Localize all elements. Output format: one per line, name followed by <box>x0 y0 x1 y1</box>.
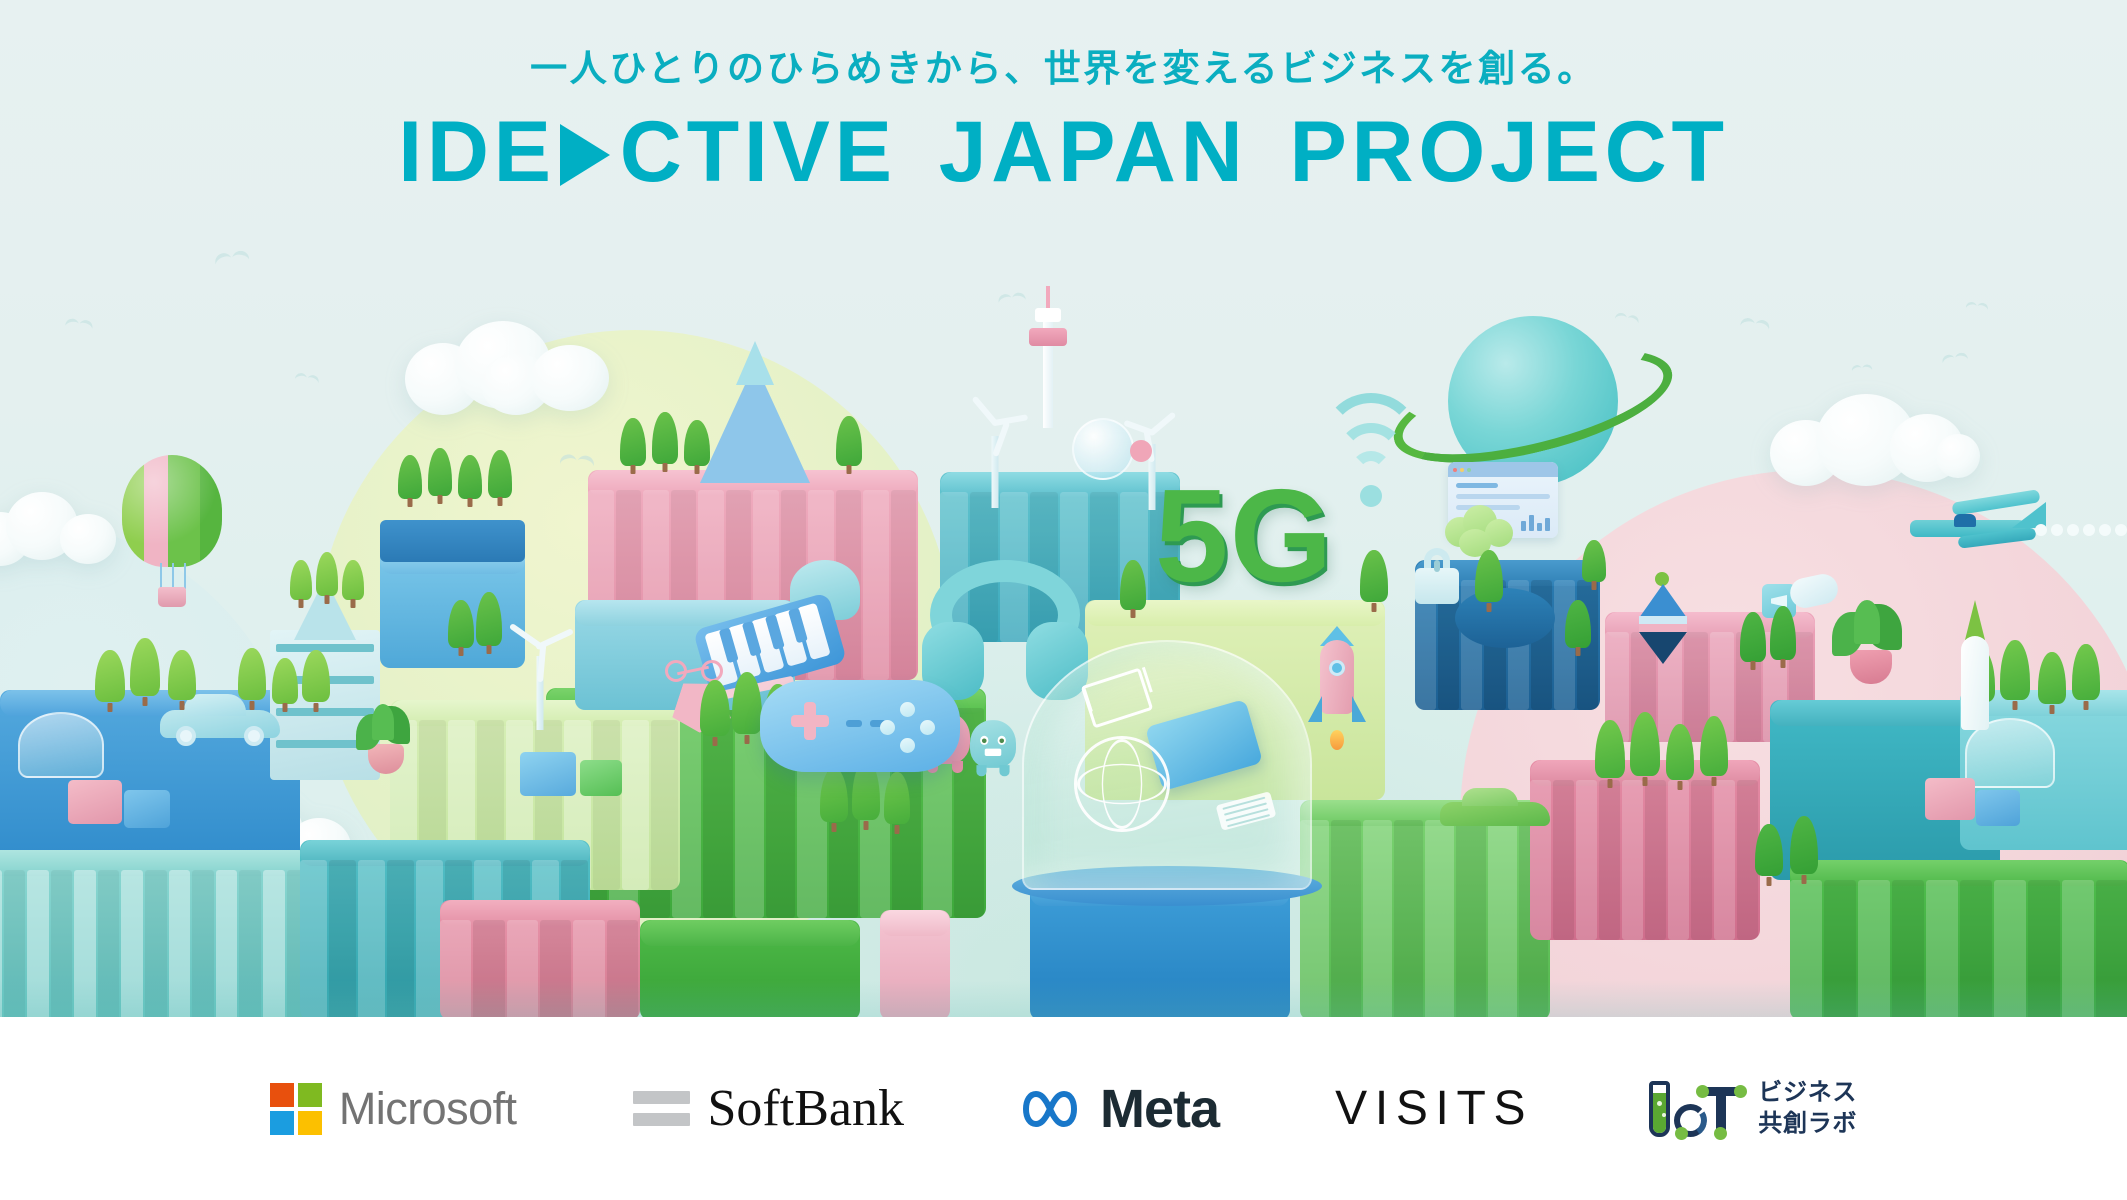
cube-blue <box>124 790 170 828</box>
pine-tree-icon <box>700 680 730 746</box>
partner-logo-microsoft[interactable]: Microsoft <box>270 1083 517 1135</box>
hero-title-block: 一人ひとりのひらめきから、世界を変えるビジネスを創る。 IDE CTIVE JA… <box>0 46 2127 199</box>
hero-logotype: IDE CTIVE JAPAN PROJECT <box>0 106 2127 199</box>
pine-tree-icon <box>1666 724 1694 790</box>
microsoft-logo-icon <box>270 1083 322 1135</box>
pine-tree-icon <box>428 448 452 504</box>
pine-tree-icon <box>290 560 312 608</box>
airplane-icon <box>1900 490 2050 560</box>
potted-plant-icon <box>352 700 418 774</box>
building-block-blue <box>380 520 525 562</box>
pine-tree-icon <box>2072 644 2100 710</box>
bird-icon <box>998 292 1026 306</box>
padlock-icon <box>1415 548 1459 604</box>
pine-tree-icon <box>652 412 678 472</box>
pine-tree-icon <box>2000 640 2030 710</box>
pine-tree-icon <box>1630 712 1660 786</box>
partner-logo-visits[interactable]: VISITS <box>1335 1081 1533 1136</box>
platform-navy-cap <box>1455 588 1555 648</box>
bird-icon <box>214 250 250 269</box>
bird-icon <box>1966 302 1989 313</box>
bird-icon <box>1852 364 1873 373</box>
sphere-pink <box>1130 440 1152 462</box>
pine-tree-icon <box>1565 600 1591 656</box>
logotype-ctive: CTIVE <box>620 106 897 199</box>
visits-wordmark: VISITS <box>1335 1081 1533 1136</box>
pine-tree-icon <box>820 768 848 832</box>
pine-tree-icon <box>448 600 474 656</box>
bird-icon <box>294 372 319 386</box>
iot-lab-logo-icon <box>1649 1079 1745 1139</box>
pine-tree-icon <box>1770 606 1796 668</box>
pine-tree-icon <box>1360 550 1388 612</box>
iot-lab-line1: ビジネス <box>1758 1080 1857 1106</box>
hero-illustration-section: 5G <box>0 0 2127 1017</box>
logotype-project: PROJECT <box>1289 106 1728 199</box>
pine-tree-icon <box>168 650 196 710</box>
partner-logo-meta[interactable]: Meta <box>1020 1078 1219 1140</box>
pine-tree-icon <box>1740 612 1766 670</box>
pine-tree-icon <box>238 648 266 710</box>
bicycle-icon <box>665 650 723 682</box>
pine-tree-icon <box>1120 560 1146 618</box>
pine-tree-icon <box>1595 720 1625 788</box>
hot-air-balloon-icon <box>122 455 222 605</box>
pine-tree-icon <box>1755 824 1783 886</box>
iot-lab-wordmark: ビジネス 共創ラボ <box>1758 1080 1857 1137</box>
triangle-a-icon <box>560 124 610 186</box>
pine-tree-icon <box>732 672 762 744</box>
cloud-icon <box>405 315 610 415</box>
pine-tree-icon <box>476 592 502 654</box>
pine-tree-icon <box>836 416 862 474</box>
plane-contrail <box>2035 524 2127 536</box>
pine-tree-icon <box>488 450 512 506</box>
pine-tree-icon <box>398 455 422 507</box>
hero-tagline: 一人ひとりのひらめきから、世界を変えるビジネスを創る。 <box>0 46 2127 92</box>
pine-tree-icon <box>1582 540 1606 590</box>
pine-tree-icon <box>302 650 330 712</box>
pine-tree-icon <box>95 650 125 712</box>
partner-logo-bar: Microsoft SoftBank Meta VISITS <box>0 1017 2127 1200</box>
bubble-sphere <box>1072 418 1134 480</box>
cube-blue <box>1976 790 2020 826</box>
bird-icon <box>1942 352 1969 366</box>
ground-strip <box>0 980 2127 1017</box>
wind-turbine-icon <box>505 640 575 730</box>
wind-turbine-icon <box>965 420 1025 508</box>
pine-tree-icon <box>884 772 910 834</box>
cube-pink <box>68 780 122 824</box>
cube-blue <box>520 752 576 796</box>
cube-pink <box>1925 778 1975 820</box>
planet-with-ring-icon <box>1448 316 1618 486</box>
glass-dome-small <box>18 712 104 778</box>
pine-tree-icon <box>2038 652 2066 714</box>
pine-tree-icon <box>620 418 646 474</box>
microsoft-wordmark: Microsoft <box>339 1083 517 1135</box>
cloud-icon <box>0 490 120 566</box>
buoy-marker <box>1633 572 1693 664</box>
pine-tree-icon <box>272 658 298 712</box>
partner-logo-iot-lab[interactable]: ビジネス 共創ラボ <box>1649 1079 1857 1139</box>
five-g-callout: 5G <box>1155 470 1334 602</box>
game-controller-icon <box>760 680 960 772</box>
mascot-character-teal <box>970 720 1016 768</box>
mountain-cone <box>700 338 810 483</box>
bird-icon <box>560 454 595 470</box>
bird-icon <box>1614 312 1639 327</box>
softbank-logo-icon <box>633 1091 690 1126</box>
logotype-japan: JAPAN <box>939 106 1248 199</box>
meta-infinity-icon <box>1020 1088 1086 1130</box>
pine-tree-icon <box>1475 550 1503 612</box>
pine-tree-icon <box>684 420 710 474</box>
rocket-icon <box>1310 640 1364 736</box>
partner-logo-softbank[interactable]: SoftBank <box>633 1079 904 1138</box>
pine-tree-icon <box>1700 716 1728 786</box>
pine-tree-icon <box>1790 816 1818 884</box>
cloud-icon <box>1770 390 1980 490</box>
toy-car-icon <box>1440 792 1550 832</box>
iot-lab-line2: 共創ラボ <box>1758 1111 1857 1137</box>
test-tube-icon <box>1649 1081 1670 1137</box>
bird-icon <box>1740 317 1770 333</box>
platform-pink-right <box>1530 760 1760 940</box>
logotype-ide: IDE <box>398 106 556 199</box>
potted-plant-icon <box>1830 592 1910 684</box>
meta-wordmark: Meta <box>1100 1078 1219 1140</box>
broadcast-tower-icon <box>1025 288 1071 428</box>
pine-tree-icon <box>130 638 160 706</box>
pine-tree-icon <box>316 552 338 604</box>
hero-banner-page: 5G <box>0 0 2127 1200</box>
glass-dome <box>1022 640 1312 890</box>
pine-tree-icon <box>342 560 364 608</box>
softbank-wordmark: SoftBank <box>708 1079 904 1138</box>
pine-tree-icon <box>458 455 482 507</box>
spire-tower <box>1955 600 1995 730</box>
cube-green <box>580 760 622 796</box>
bird-icon <box>65 318 93 332</box>
